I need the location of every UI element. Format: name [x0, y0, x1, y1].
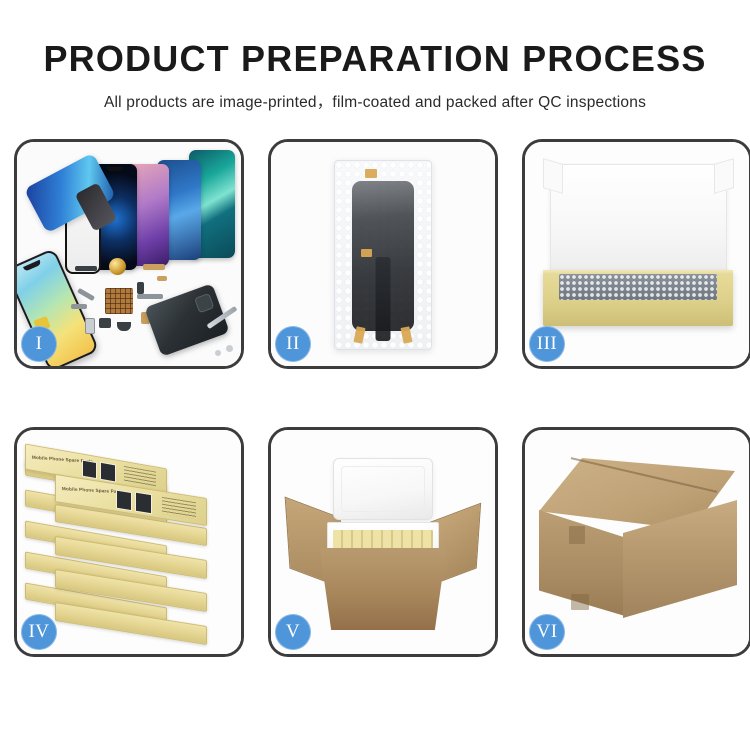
cardboard-carton-icon: [311, 548, 455, 630]
process-step-grid: I II: [14, 139, 736, 657]
product-window-icon: [82, 460, 97, 480]
sim-tray-icon: [85, 318, 95, 334]
page-subtitle: All products are image-printed，film-coat…: [0, 90, 750, 112]
connector-icon: [71, 304, 87, 309]
tape-patch-icon: [569, 526, 585, 544]
notch-icon: [107, 167, 123, 171]
step-badge-4: IV: [21, 614, 57, 650]
adhesive-tape-icon: [361, 249, 372, 257]
connector-icon: [77, 288, 95, 301]
vibrator-icon: [117, 322, 131, 331]
process-step-panel-3[interactable]: III: [522, 139, 750, 369]
product-window-icon: [135, 492, 152, 515]
adhesive-tape-icon: [353, 326, 365, 344]
grey-bubble-wrap-fill-icon: [559, 274, 717, 300]
header: PRODUCT PREPARATION PROCESS All products…: [0, 0, 750, 112]
adhesive-tape-icon: [365, 169, 377, 178]
process-step-panel-6[interactable]: VI: [522, 427, 750, 657]
bubble-wrap-bag-icon: [334, 160, 432, 350]
foam-lid-icon: [333, 458, 433, 520]
product-window-icon: [100, 462, 116, 483]
page-title: PRODUCT PREPARATION PROCESS: [0, 40, 750, 78]
process-step-panel-1[interactable]: I: [14, 139, 244, 369]
process-step-panel-5[interactable]: V: [268, 427, 498, 657]
step-badge-3: III: [529, 326, 565, 362]
step-badge-2: II: [275, 326, 311, 362]
speaker-module-icon: [109, 258, 126, 275]
screw-icon: [226, 345, 233, 352]
part-strip-icon: [75, 266, 97, 271]
process-step-panel-2[interactable]: II: [268, 139, 498, 369]
notch-icon: [23, 260, 41, 272]
step-badge-6: VI: [529, 614, 565, 650]
step-badge-5: V: [275, 614, 311, 650]
process-step-panel-4[interactable]: Mobile Phone Spare Parts Mobile Phone Sp…: [14, 427, 244, 657]
yellow-box-tray-icon: [543, 270, 733, 326]
camera-module-icon: [99, 318, 111, 328]
white-foam-lid-icon: [550, 164, 727, 280]
small-component-icon: [137, 282, 144, 294]
ribbon-cable-icon: [137, 294, 163, 299]
copper-grid-chip-icon: [105, 288, 133, 314]
tape-patch-icon: [571, 594, 589, 610]
flex-cable-icon: [143, 264, 165, 270]
screw-icon: [215, 350, 221, 356]
flex-cable-icon: [157, 276, 167, 281]
flex-cable-icon: [376, 257, 391, 341]
product-window-icon: [116, 490, 132, 512]
step-badge-1: I: [21, 326, 57, 362]
